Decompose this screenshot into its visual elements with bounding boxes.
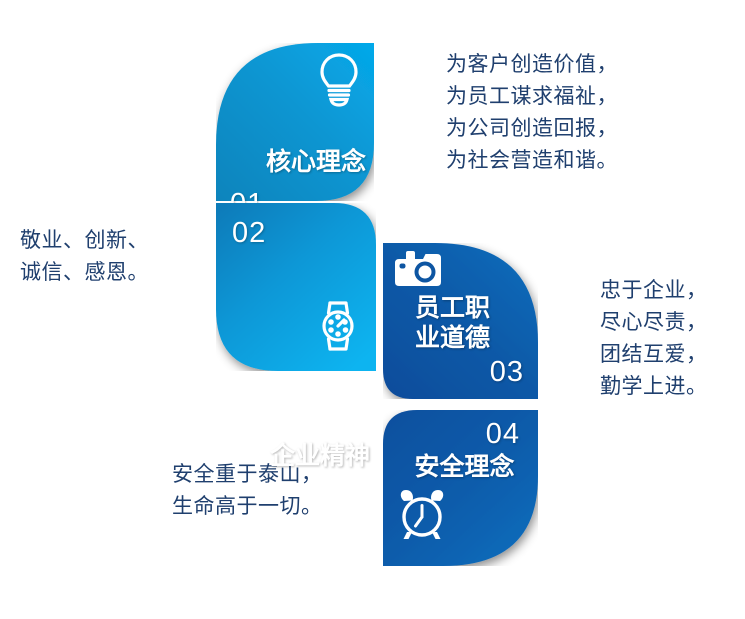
card-04-number: 04 — [486, 418, 520, 451]
card-enterprise-spirit[interactable]: 02 企业精神 — [216, 203, 376, 371]
description-text-03: 忠于企业， 尽心尽责， 团结互爱， 勤学上进。 — [600, 274, 708, 402]
card-02-number: 02 — [232, 217, 266, 250]
card-04-content: 04 安全理念 — [383, 410, 538, 566]
description-text-02: 敬业、创新、 诚信、感恩。 — [20, 224, 149, 288]
wristwatch-icon — [314, 298, 362, 359]
card-employee-ethics[interactable]: 员工职 业道德 03 — [383, 243, 538, 399]
card-03-title: 员工职 业道德 — [383, 293, 538, 353]
card-01-content: 核心理念 01 — [216, 43, 374, 201]
alarm-clock-icon — [395, 487, 449, 546]
description-text-01: 为客户创造价值， 为员工谋求福祉， 为公司创造回报， 为社会营造和谐。 — [446, 48, 618, 176]
card-core-philosophy[interactable]: 核心理念 01 — [216, 43, 374, 201]
card-02-title: 企业精神 — [216, 441, 376, 471]
card-02-content: 02 企业精神 — [216, 203, 376, 371]
infographic-canvas: 为客户创造价值， 为员工谋求福祉， 为公司创造回报， 为社会营造和谐。 敬业、创… — [0, 0, 745, 619]
card-03-content: 员工职 业道德 03 — [383, 243, 538, 399]
lightbulb-icon — [316, 51, 362, 112]
card-04-title: 安全理念 — [383, 452, 538, 482]
card-safety-philosophy[interactable]: 04 安全理念 — [383, 410, 538, 566]
camera-icon — [393, 249, 443, 296]
card-03-number: 03 — [490, 356, 524, 389]
card-01-title: 核心理念 — [216, 147, 374, 177]
